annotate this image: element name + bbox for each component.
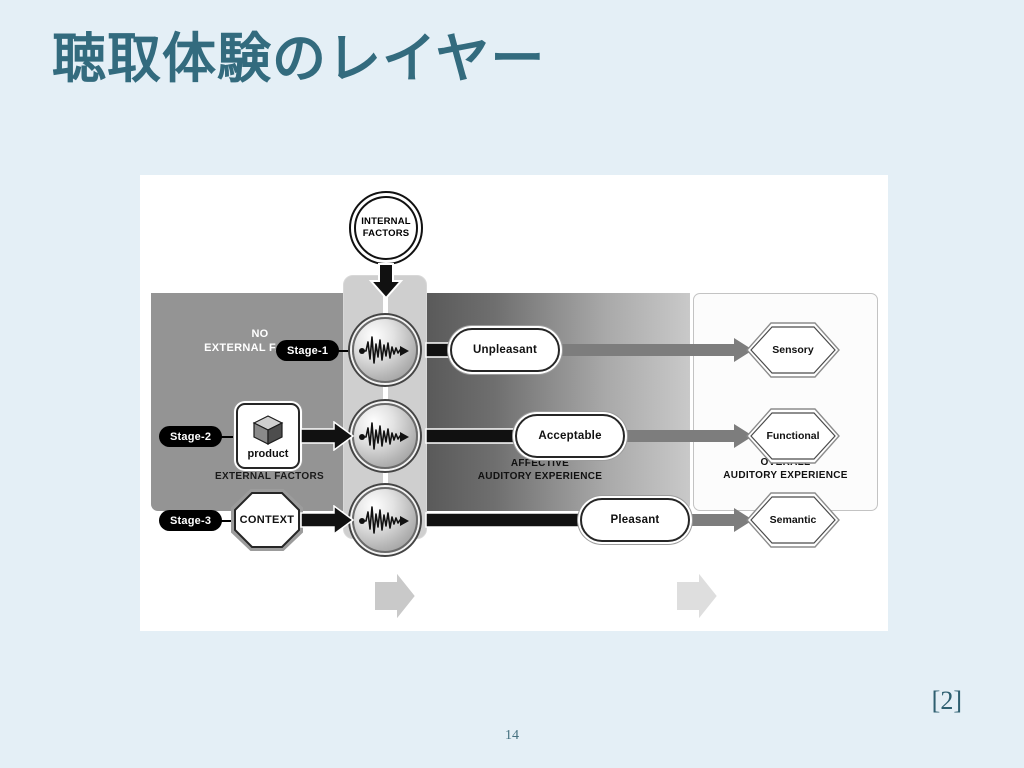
internal-factors-line1: INTERNAL — [361, 216, 411, 228]
down-arrow-icon — [368, 263, 404, 299]
stage-1-pill[interactable]: Stage-1 — [276, 340, 339, 361]
product-input-node[interactable]: product — [236, 403, 300, 469]
overall-outcome-sensory-label: Sensory — [745, 321, 841, 379]
flow-arrow-product-to-waveform — [300, 421, 354, 451]
context-label: CONTEXT — [231, 489, 303, 551]
result-arrow-to-functional — [620, 423, 754, 449]
flow-arrow-context-to-waveform — [300, 505, 354, 535]
overall-outcome-functional-label: Functional — [745, 407, 841, 465]
panel-affective-caption-line2: AUDITORY EXPERIENCE — [390, 470, 690, 483]
diagram-canvas: EXTERNAL FACTORS AFFECTIVE AUDITORY EXPE… — [140, 175, 888, 631]
page-number: 14 — [0, 728, 1024, 744]
internal-factors-inner-ring: INTERNAL FACTORS — [354, 196, 418, 260]
outcome-unpleasant[interactable]: Unpleasant — [450, 328, 560, 372]
cube-icon — [251, 414, 285, 446]
result-arrow-to-semantic — [685, 507, 754, 533]
panel-chevron-icon-1 — [372, 569, 418, 623]
overall-outcome-semantic-label: Semantic — [745, 491, 841, 549]
panel-overall-caption-line2: AUDITORY EXPERIENCE — [694, 469, 877, 482]
internal-factors-node: INTERNAL FACTORS — [349, 191, 423, 265]
overall-outcome-functional[interactable]: Functional — [745, 407, 841, 465]
product-label: product — [248, 448, 289, 460]
panel-affective-experience-caption: AFFECTIVE AUDITORY EXPERIENCE — [390, 457, 690, 483]
panel-chevron-icon-2 — [674, 569, 720, 623]
overall-outcome-semantic[interactable]: Semantic — [745, 491, 841, 549]
waveform-icon — [359, 418, 411, 454]
waveform-node-3[interactable] — [352, 487, 418, 553]
page-title: 聴取体験のレイヤー — [52, 28, 545, 90]
waveform-icon — [359, 332, 411, 368]
result-arrow-to-sensory — [554, 337, 754, 363]
internal-factors-line2: FACTORS — [361, 228, 411, 240]
waveform-node-2[interactable] — [352, 403, 418, 469]
internal-factors-label: INTERNAL FACTORS — [361, 216, 411, 240]
panel-affective-caption-line1: AFFECTIVE — [390, 457, 690, 470]
outcome-acceptable[interactable]: Acceptable — [515, 414, 625, 458]
stage-3-pill[interactable]: Stage-3 — [159, 510, 222, 531]
overall-outcome-sensory[interactable]: Sensory — [745, 321, 841, 379]
citation-reference: [2] — [932, 686, 962, 716]
stage-2-pill[interactable]: Stage-2 — [159, 426, 222, 447]
context-input-node[interactable]: CONTEXT — [231, 489, 303, 551]
waveform-icon — [359, 502, 411, 538]
waveform-node-1[interactable] — [352, 317, 418, 383]
outcome-pleasant[interactable]: Pleasant — [580, 498, 690, 542]
panel-affective-experience: AFFECTIVE AUDITORY EXPERIENCE — [390, 293, 690, 511]
